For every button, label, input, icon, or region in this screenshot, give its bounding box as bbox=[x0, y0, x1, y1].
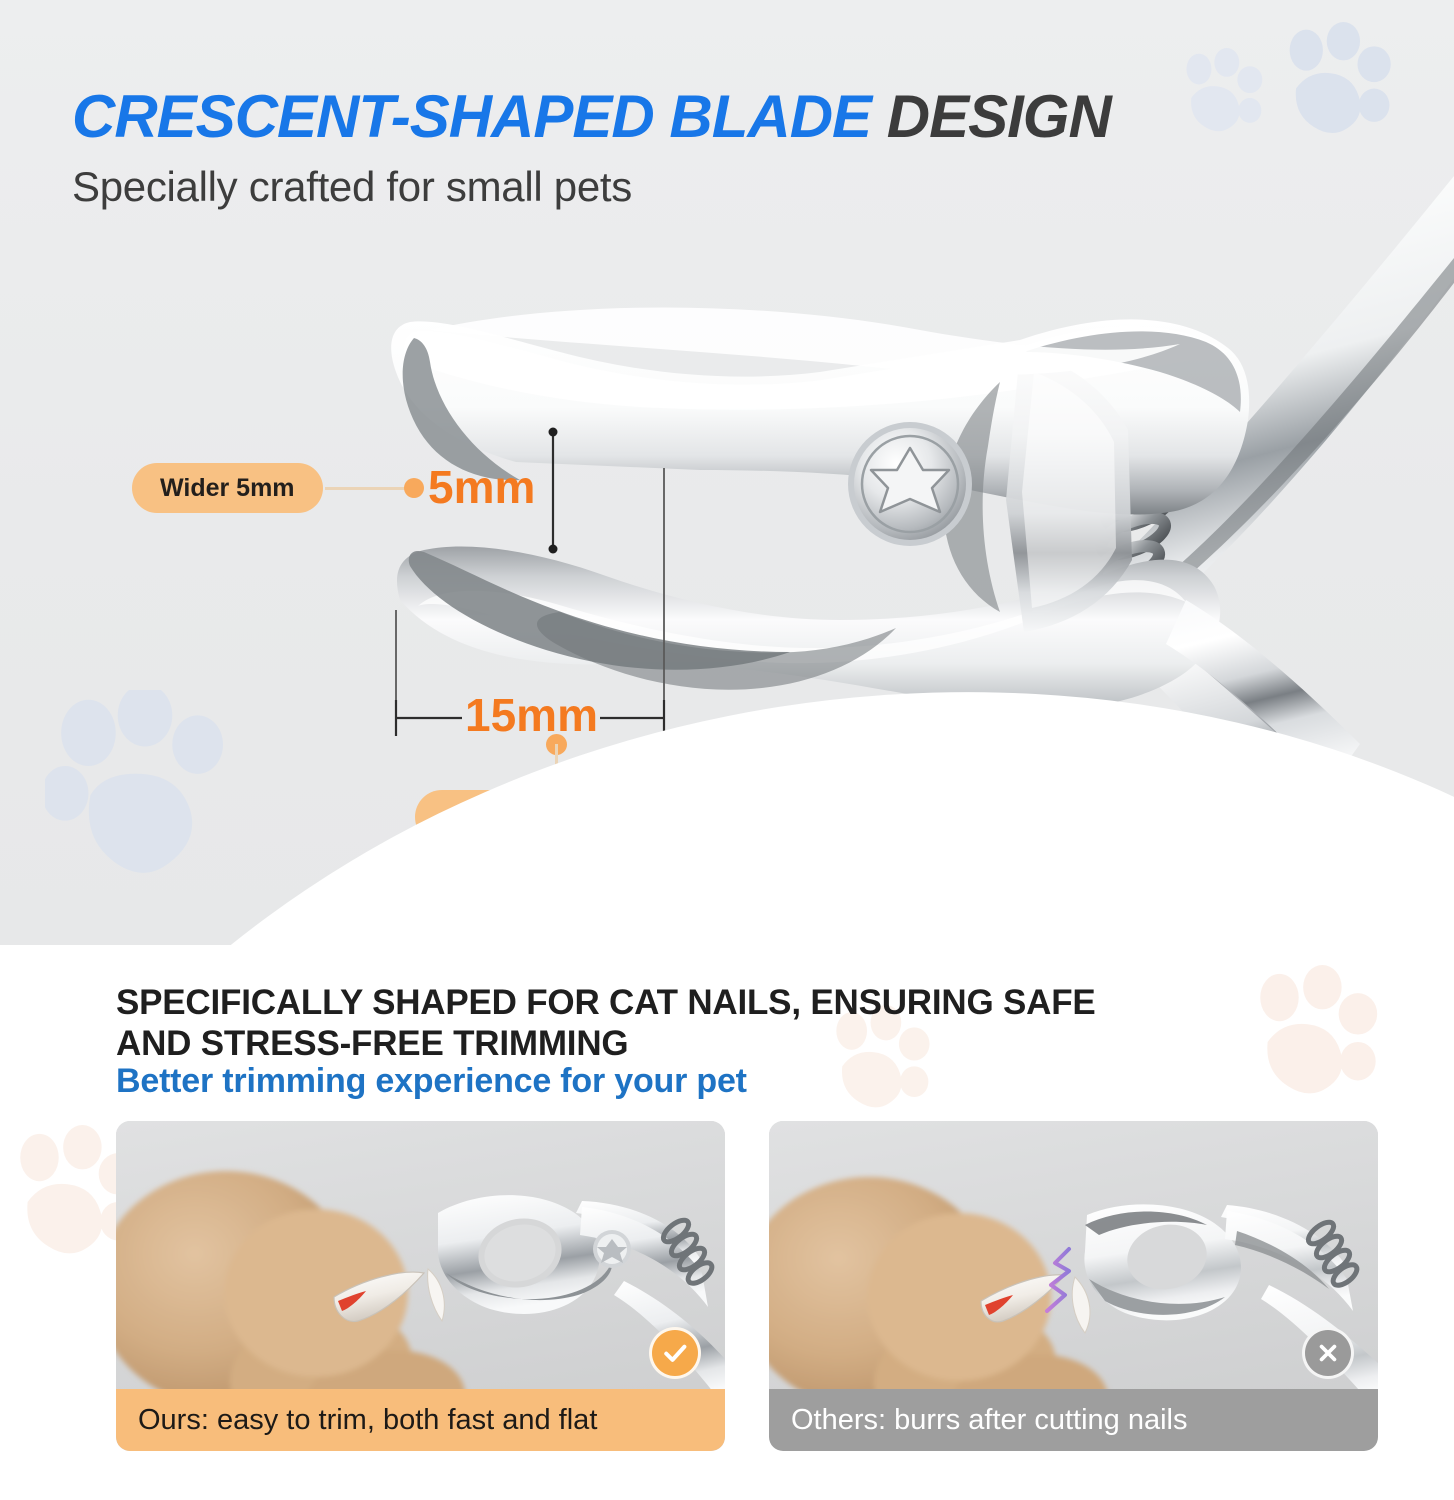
panel-others: Others: burrs after cutting nails bbox=[769, 1121, 1378, 1451]
wider-leader-line bbox=[325, 487, 407, 490]
cross-glyph bbox=[1314, 1339, 1342, 1367]
section-subheading: Better trimming experience for your pet bbox=[116, 1062, 747, 1101]
paw-print-watermark-icon bbox=[1240, 965, 1390, 1113]
panel-others-caption: Others: burrs after cutting nails bbox=[769, 1389, 1378, 1451]
check-circle-icon bbox=[649, 1327, 701, 1379]
height-dimension-label: 5mm bbox=[428, 464, 535, 510]
wider-5mm-pill: Wider 5mm bbox=[132, 463, 323, 513]
page-subtitle: Specially crafted for small pets bbox=[72, 163, 632, 211]
top-section: Wider 5mm 5mm 15mm 12mm Half-Moon Blade … bbox=[0, 0, 1454, 945]
section-heading: SPECIFICALLY SHAPED FOR CAT NAILS, ENSUR… bbox=[116, 983, 1116, 1064]
comparison-panels: Ours: easy to trim, both fast and flat bbox=[116, 1121, 1378, 1451]
product-infographic: Wider 5mm 5mm 15mm 12mm Half-Moon Blade … bbox=[0, 0, 1454, 1500]
panel-ours-caption: Ours: easy to trim, both fast and flat bbox=[116, 1389, 725, 1451]
check-glyph bbox=[660, 1338, 690, 1368]
page-title-secondary: DESIGN bbox=[887, 83, 1111, 150]
page-title: CRESCENT-SHAPED BLADE DESIGN bbox=[72, 82, 1111, 151]
panel-ours: Ours: easy to trim, both fast and flat bbox=[116, 1121, 725, 1451]
lower-section: SPECIFICALLY SHAPED FOR CAT NAILS, ENSUR… bbox=[0, 945, 1454, 1500]
width-dimension-label: 15mm bbox=[465, 692, 598, 738]
wider-leader-dot bbox=[404, 478, 424, 498]
page-title-primary: CRESCENT-SHAPED BLADE bbox=[72, 83, 871, 150]
cross-circle-icon bbox=[1302, 1327, 1354, 1379]
